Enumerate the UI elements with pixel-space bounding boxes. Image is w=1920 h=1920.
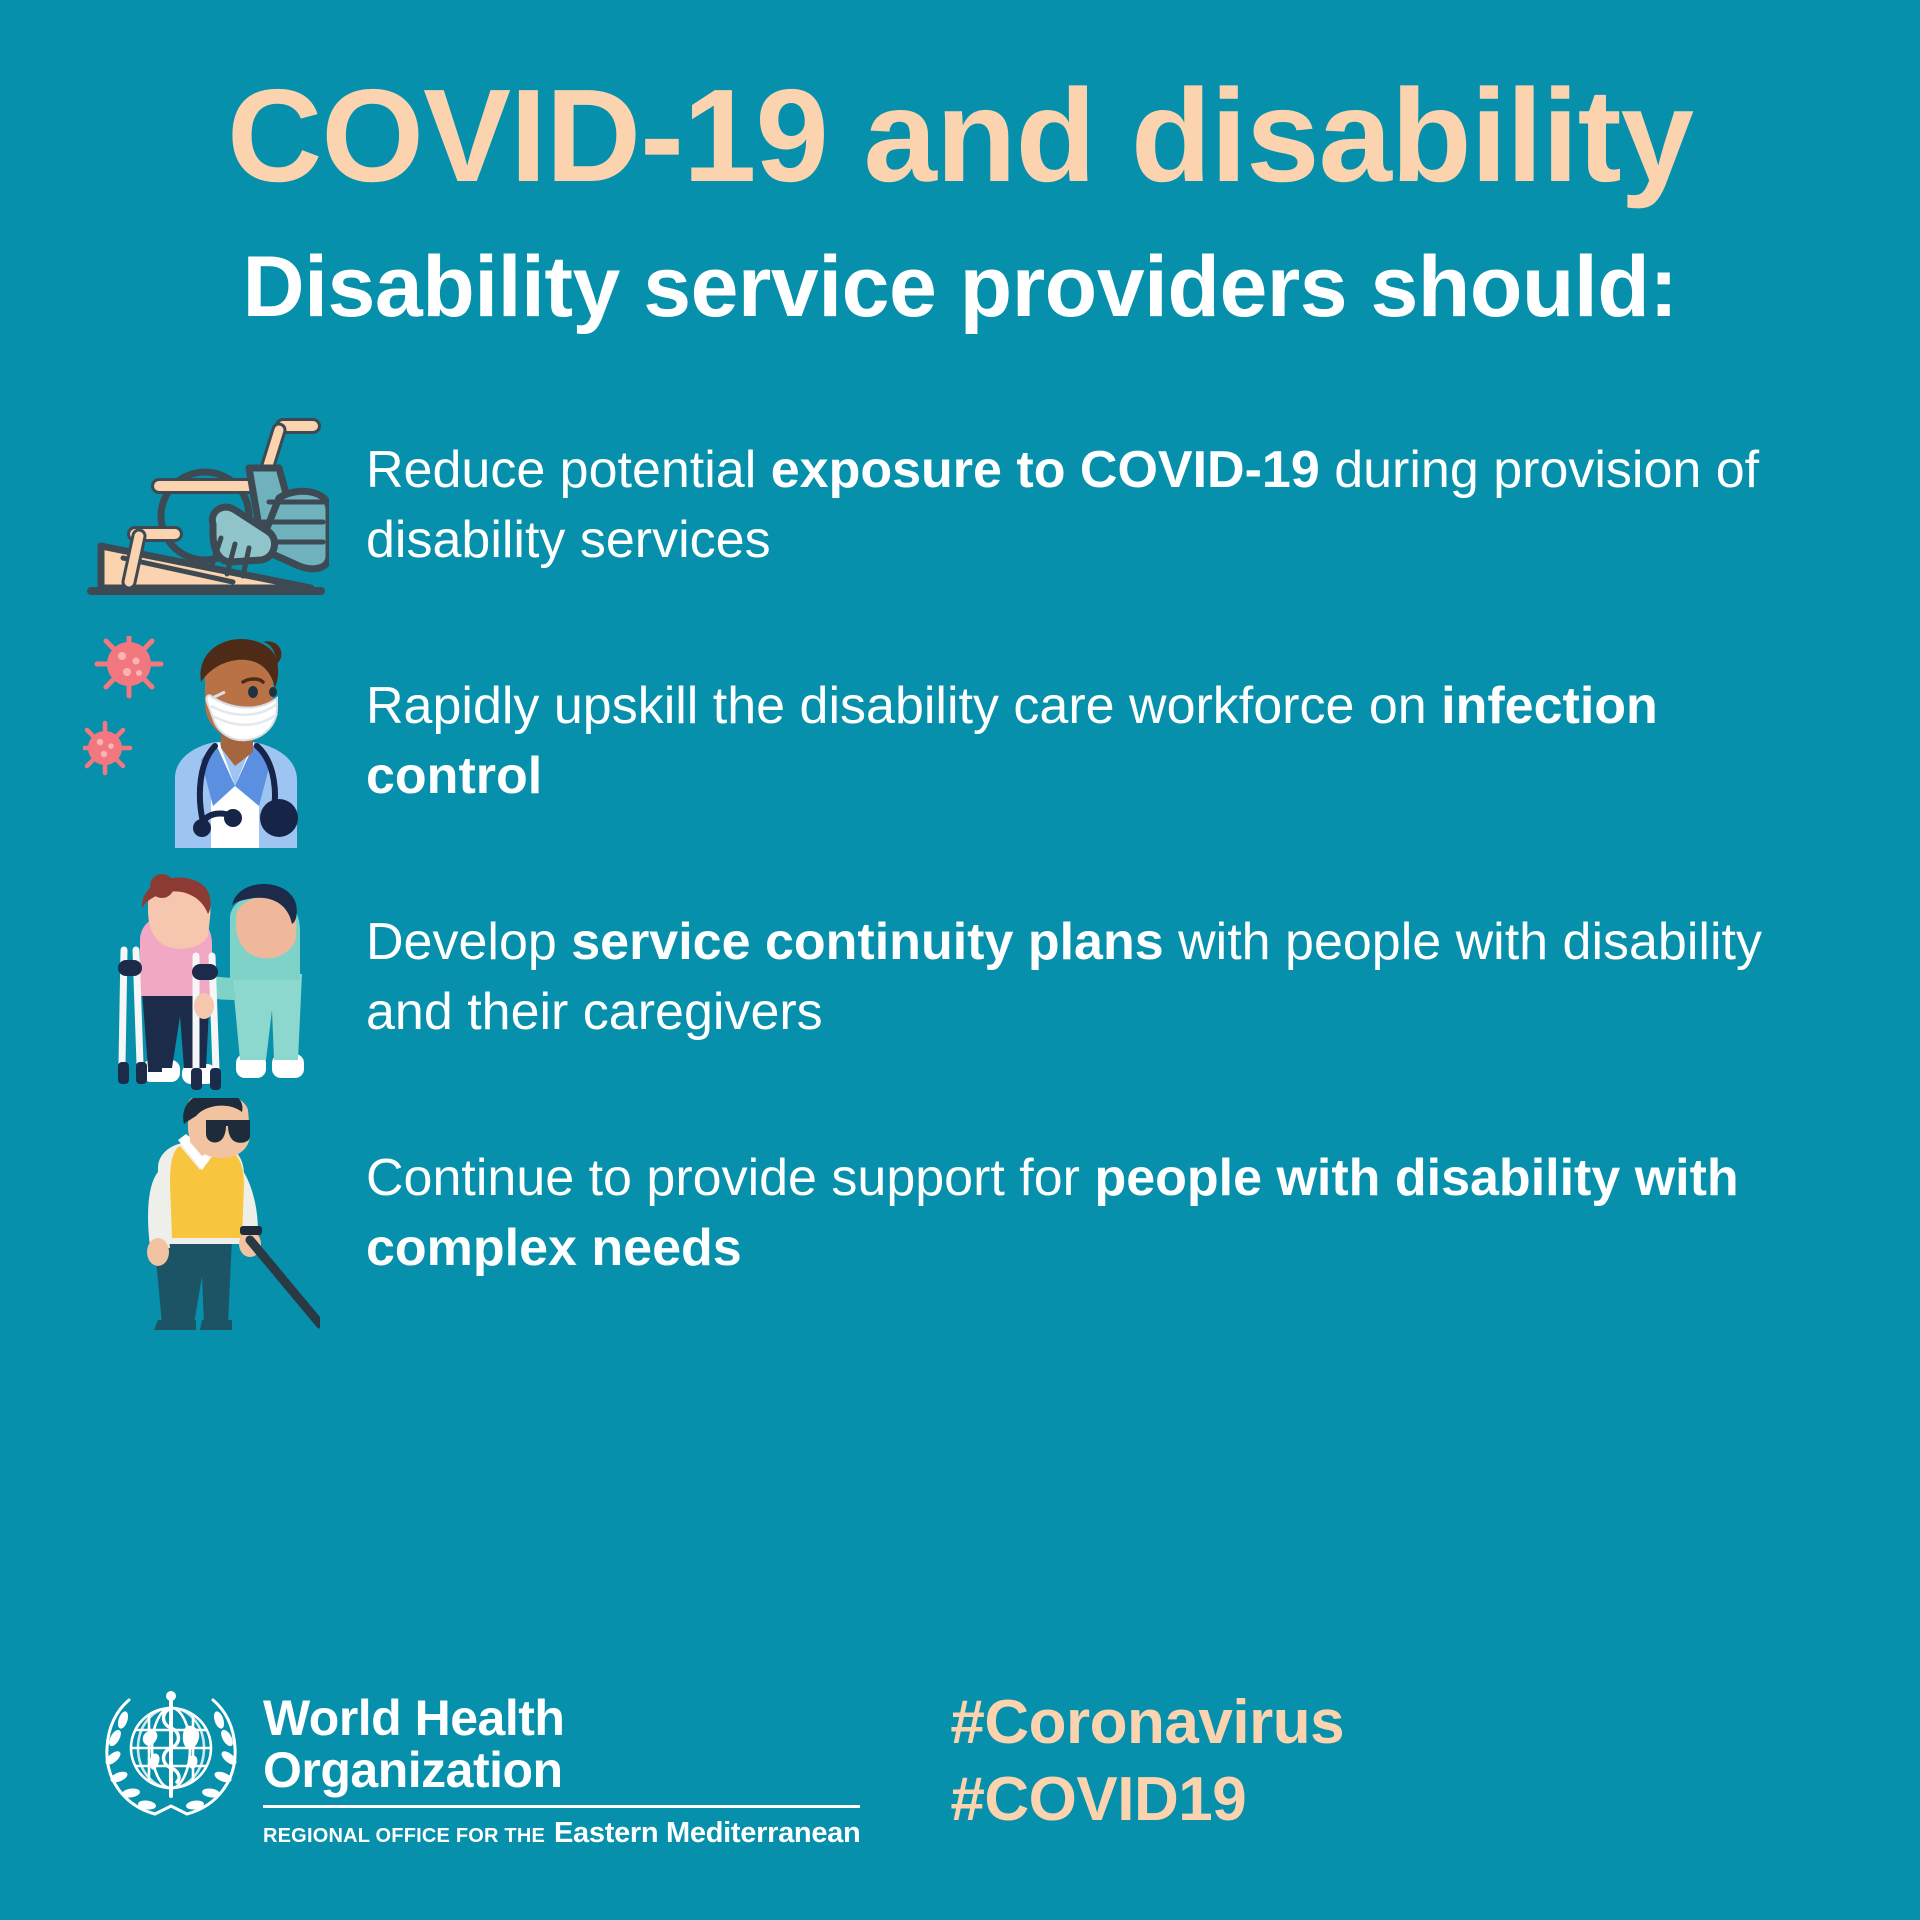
text-part: Develop (366, 913, 571, 971)
list-item-text: Rapidly upskill the disability care work… (332, 672, 1850, 811)
text-part: Reduce potential (366, 441, 771, 499)
who-wordmark: World Health Organization REGIONAL OFFIC… (263, 1678, 860, 1850)
text-part-bold: service continuity plans (571, 913, 1163, 971)
list-item-text: Develop service continuity plans with pe… (332, 908, 1850, 1047)
who-name-line2: Organization (263, 1744, 860, 1796)
list-item: Rapidly upskill the disability care work… (80, 624, 1850, 860)
wheelchair-ramp-gloved-hand-icon (80, 392, 332, 620)
who-un-laurel-rod-of-asclepius-emblem (95, 1678, 247, 1835)
poster-header: COVID-19 and disability Disability servi… (0, 0, 1920, 330)
hashtag-covid19: #COVID19 (950, 1763, 1344, 1836)
who-regional-prefix: REGIONAL OFFICE FOR THE (263, 1825, 545, 1848)
hashtag-coronavirus: #Coronavirus (950, 1686, 1344, 1759)
poster-root: COVID-19 and disability Disability servi… (0, 0, 1920, 1920)
blind-man-with-white-cane-icon (80, 1100, 332, 1328)
text-part: Continue to provide support for (366, 1149, 1094, 1207)
who-regional-office: REGIONAL OFFICE FOR THE Eastern Mediterr… (263, 1817, 860, 1850)
text-part: Rapidly upskill the disability care work… (366, 677, 1441, 735)
who-logo: World Health Organization REGIONAL OFFIC… (95, 1678, 860, 1850)
poster-footer: World Health Organization REGIONAL OFFIC… (0, 1678, 1920, 1920)
page-subtitle: Disability service providers should: (60, 244, 1860, 330)
who-name-line1: World Health (263, 1692, 860, 1744)
page-title: COVID-19 and disability (60, 70, 1860, 202)
recommendation-list: Reduce potential exposure to COVID-19 du… (0, 388, 1920, 1678)
list-item-text: Continue to provide support for people w… (332, 1144, 1850, 1283)
list-item: Develop service continuity plans with pe… (80, 860, 1850, 1096)
list-item: Reduce potential exposure to COVID-19 du… (80, 388, 1850, 624)
masked-health-worker-virus-icon (80, 628, 332, 856)
text-part-bold: exposure to COVID-19 (771, 441, 1320, 499)
list-item: Continue to provide support for people w… (80, 1096, 1850, 1332)
list-item-text: Reduce potential exposure to COVID-19 du… (332, 436, 1850, 575)
person-crutches-with-carer-icon (80, 864, 332, 1092)
hashtag-group: #Coronavirus #COVID19 (950, 1686, 1344, 1842)
who-regional-name: Eastern Mediterranean (554, 1817, 860, 1850)
divider (263, 1805, 860, 1808)
